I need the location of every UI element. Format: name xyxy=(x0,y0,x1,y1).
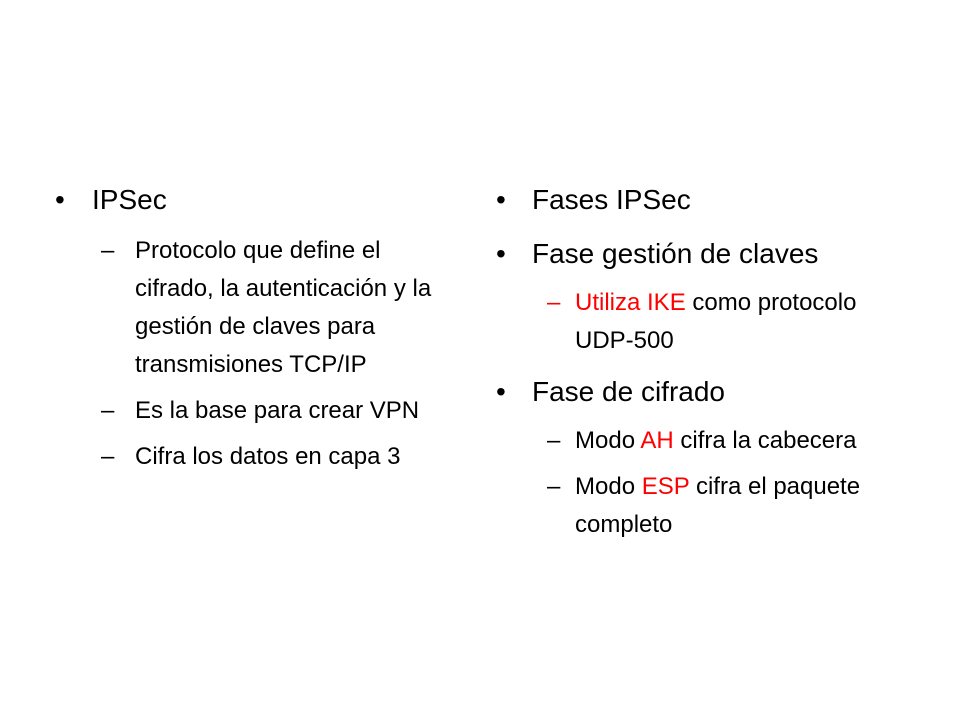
spacer xyxy=(480,460,960,468)
sub-bullet-modo-esp-highlight: ESP xyxy=(642,473,690,500)
bullet-item-fase-gestion-claves-label: Fase gestión de claves xyxy=(532,238,818,269)
dash-bullet-icon: – xyxy=(547,422,560,460)
dash-bullet-icon: – xyxy=(547,468,560,506)
bullet-item-fase-gestion-claves: • Fase gestión de claves xyxy=(480,232,832,276)
bullet-item-fases-ipsec: • Fases IPSec xyxy=(480,178,832,222)
bullet-dot-icon: • xyxy=(496,178,506,222)
sub-bullet-modo-ah-highlight: AH xyxy=(640,427,673,454)
sub-bullet-capa3: – Cifra los datos en capa 3 xyxy=(0,438,460,476)
dash-bullet-icon: – xyxy=(101,232,114,270)
sub-bullet-vpn-label: Es la base para crear VPN xyxy=(135,397,419,424)
spacer xyxy=(480,276,960,284)
spacer xyxy=(0,222,480,232)
bullet-item-fases-ipsec-label: Fases IPSec xyxy=(532,184,691,215)
bullet-dot-icon: • xyxy=(496,370,506,414)
bullet-dot-icon: • xyxy=(496,232,506,276)
sub-bullet-modo-ah: – Modo AH cifra la cabecera xyxy=(480,422,870,460)
sub-bullet-modo-ah-suffix: cifra la cabecera xyxy=(674,427,857,454)
bullet-item-fase-de-cifrado: • Fase de cifrado xyxy=(480,370,832,414)
dash-bullet-icon: – xyxy=(101,438,114,476)
dash-bullet-icon: – xyxy=(547,284,560,322)
sub-bullet-protocolo-label: Protocolo que define el cifrado, la aute… xyxy=(135,237,431,378)
bullet-item-ipsec-label: IPSec xyxy=(92,184,167,215)
spacer xyxy=(480,414,960,422)
right-content-column: • Fases IPSec • Fase gestión de claves –… xyxy=(480,178,960,544)
sub-bullet-capa3-label: Cifra los datos en capa 3 xyxy=(135,443,401,470)
spacer xyxy=(0,430,480,438)
left-content-column: • IPSec – Protocolo que define el cifrad… xyxy=(0,178,480,476)
bullet-item-fase-de-cifrado-label: Fase de cifrado xyxy=(532,376,725,407)
sub-bullet-protocolo: – Protocolo que define el cifrado, la au… xyxy=(0,232,460,384)
spacer xyxy=(480,222,960,232)
sub-bullet-modo-esp: – Modo ESP cifra el paquete completo xyxy=(480,468,870,544)
sub-bullet-vpn: – Es la base para crear VPN xyxy=(0,392,460,430)
spacer xyxy=(0,384,480,392)
sub-bullet-modo-esp-prefix: Modo xyxy=(575,473,642,500)
bullet-item-ipsec: • IPSec xyxy=(0,178,480,222)
slide-canvas: • IPSec – Protocolo que define el cifrad… xyxy=(0,0,960,720)
sub-bullet-utiliza-ike: – Utiliza IKE como protocolo UDP-500 xyxy=(480,284,870,360)
bullet-dot-icon: • xyxy=(55,178,65,222)
sub-bullet-modo-ah-prefix: Modo xyxy=(575,427,640,454)
dash-bullet-icon: – xyxy=(101,392,114,430)
spacer xyxy=(480,360,960,370)
sub-bullet-utiliza-ike-highlight: Utiliza IKE xyxy=(575,289,686,316)
